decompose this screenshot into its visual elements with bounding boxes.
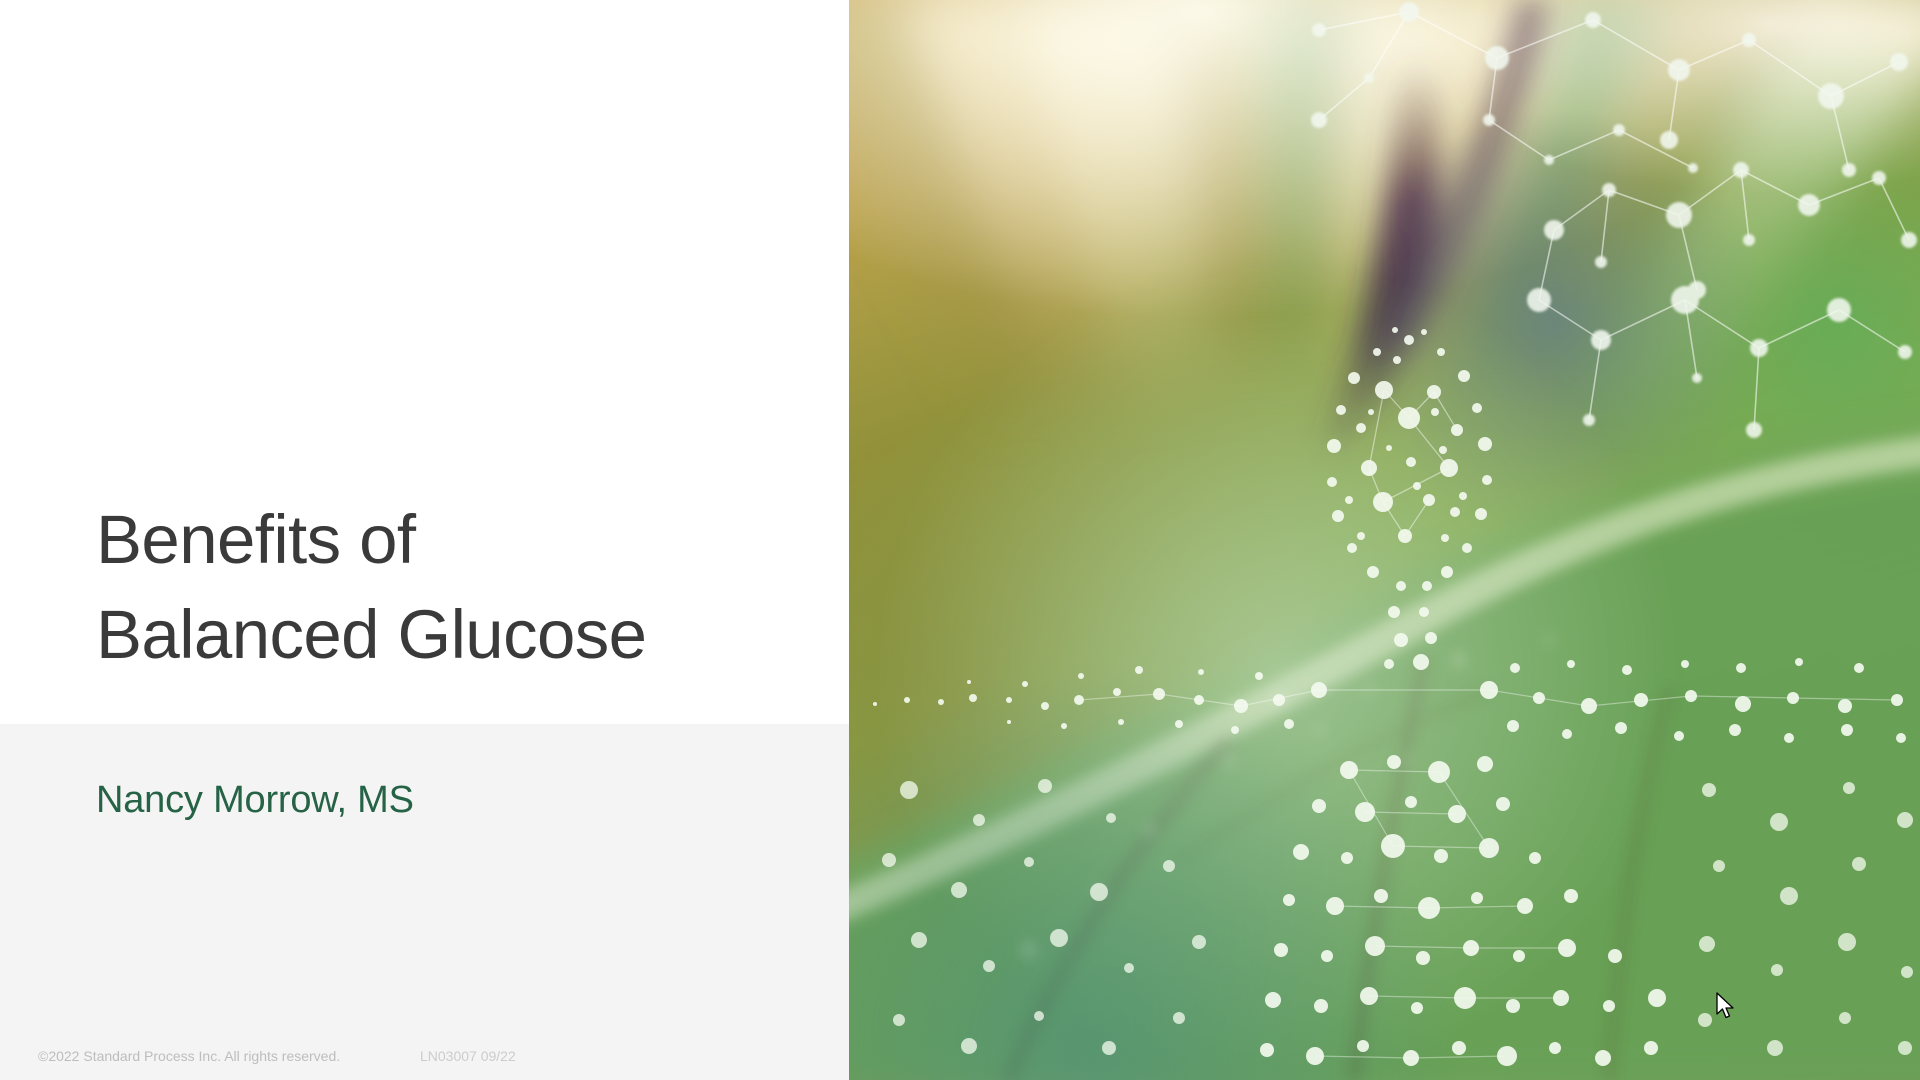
figure-scatter-dots	[882, 779, 1913, 1056]
page-title: Benefits of Balanced Glucose	[96, 492, 796, 682]
leaf-photo-panel	[849, 0, 1920, 1080]
dotted-human-figure	[873, 327, 1913, 1066]
title-line-1: Benefits of	[96, 492, 796, 587]
molecular-network-overlay	[849, 0, 1920, 1080]
figure-shoulders-arms	[873, 658, 1906, 743]
title-slide: Benefits of Balanced Glucose Nancy Morro…	[0, 0, 1920, 1080]
slide-footer: ©2022 Standard Process Inc. All rights r…	[0, 1046, 849, 1070]
figure-head	[1327, 327, 1492, 591]
figure-torso	[1260, 755, 1666, 1066]
footer-copyright: ©2022 Standard Process Inc. All rights r…	[38, 1046, 340, 1066]
figure-neck	[1384, 606, 1437, 670]
network-links-top	[1319, 12, 1909, 430]
left-text-panel: Benefits of Balanced Glucose Nancy Morro…	[0, 0, 849, 1080]
figure-links	[1079, 690, 1897, 1058]
title-line-2: Balanced Glucose	[96, 587, 796, 682]
presenter-name: Nancy Morrow, MS	[96, 777, 414, 823]
footer-document-code: LN03007 09/22	[420, 1046, 516, 1066]
network-nodes-top	[1311, 2, 1917, 438]
